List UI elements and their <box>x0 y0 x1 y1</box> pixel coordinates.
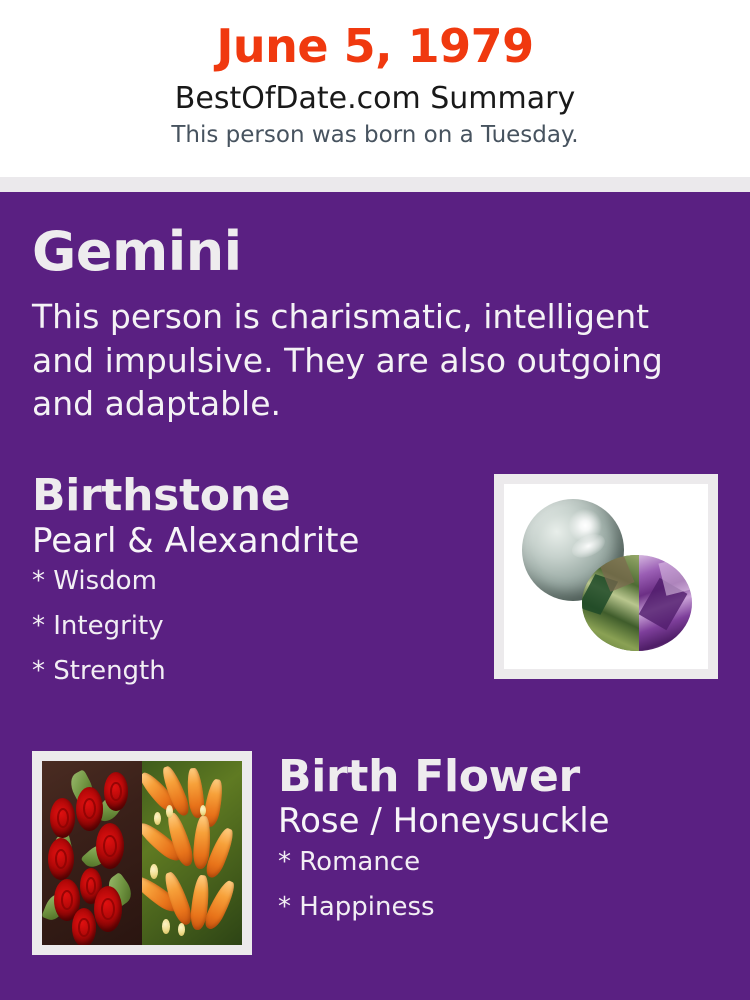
alexandrite-purple-half <box>639 555 692 651</box>
birthstone-trait-list: * Wisdom * Integrity * Strength <box>32 568 472 684</box>
birthstone-trait-item: * Strength <box>32 658 472 684</box>
birth-flower-artwork <box>42 761 242 945</box>
birthstone-title: Birthstone <box>32 472 472 520</box>
birth-flower-section: Birth Flower Rose / Honeysuckle * Romanc… <box>32 747 718 955</box>
birthstone-photo <box>504 484 708 669</box>
birth-flower-names: Rose / Honeysuckle <box>278 802 718 840</box>
summary-card: June 5, 1979 BestOfDate.com Summary This… <box>0 0 750 1000</box>
birthstone-artwork <box>504 484 708 669</box>
site-summary-subtitle: BestOfDate.com Summary <box>0 80 750 118</box>
orange-honeysuckle-icon <box>142 761 242 945</box>
details-panel: Gemini This person is charismatic, intel… <box>0 192 750 1000</box>
zodiac-section: Gemini This person is charismatic, intel… <box>32 192 718 426</box>
birth-date-title: June 5, 1979 <box>0 22 750 72</box>
birthstone-names: Pearl & Alexandrite <box>32 522 472 560</box>
alexandrite-green-half <box>582 555 639 651</box>
weekday-line: This person was born on a Tuesday. <box>0 121 750 150</box>
birth-flower-text-block: Birth Flower Rose / Honeysuckle * Romanc… <box>278 747 718 939</box>
red-roses-icon <box>42 761 142 945</box>
birthstone-trait-item: * Integrity <box>32 613 472 639</box>
birth-flower-photo <box>42 761 242 945</box>
zodiac-description: This person is charismatic, intelligent … <box>32 295 712 427</box>
birthstone-text-block: Birthstone Pearl & Alexandrite * Wisdom … <box>32 472 472 703</box>
birth-flower-trait-item: * Romance <box>278 849 718 875</box>
alexandrite-gem-icon <box>582 555 692 651</box>
zodiac-sign-title: Gemini <box>32 224 718 281</box>
header-separator <box>0 177 750 192</box>
birth-flower-photo-frame <box>32 751 252 955</box>
birthstone-photo-frame <box>494 474 718 679</box>
birth-flower-trait-list: * Romance * Happiness <box>278 849 718 920</box>
birthstone-section: Birthstone Pearl & Alexandrite * Wisdom … <box>32 472 718 703</box>
birth-flower-trait-item: * Happiness <box>278 894 718 920</box>
birthstone-trait-item: * Wisdom <box>32 568 472 594</box>
card-header: June 5, 1979 BestOfDate.com Summary This… <box>0 0 750 177</box>
birth-flower-title: Birth Flower <box>278 753 718 801</box>
